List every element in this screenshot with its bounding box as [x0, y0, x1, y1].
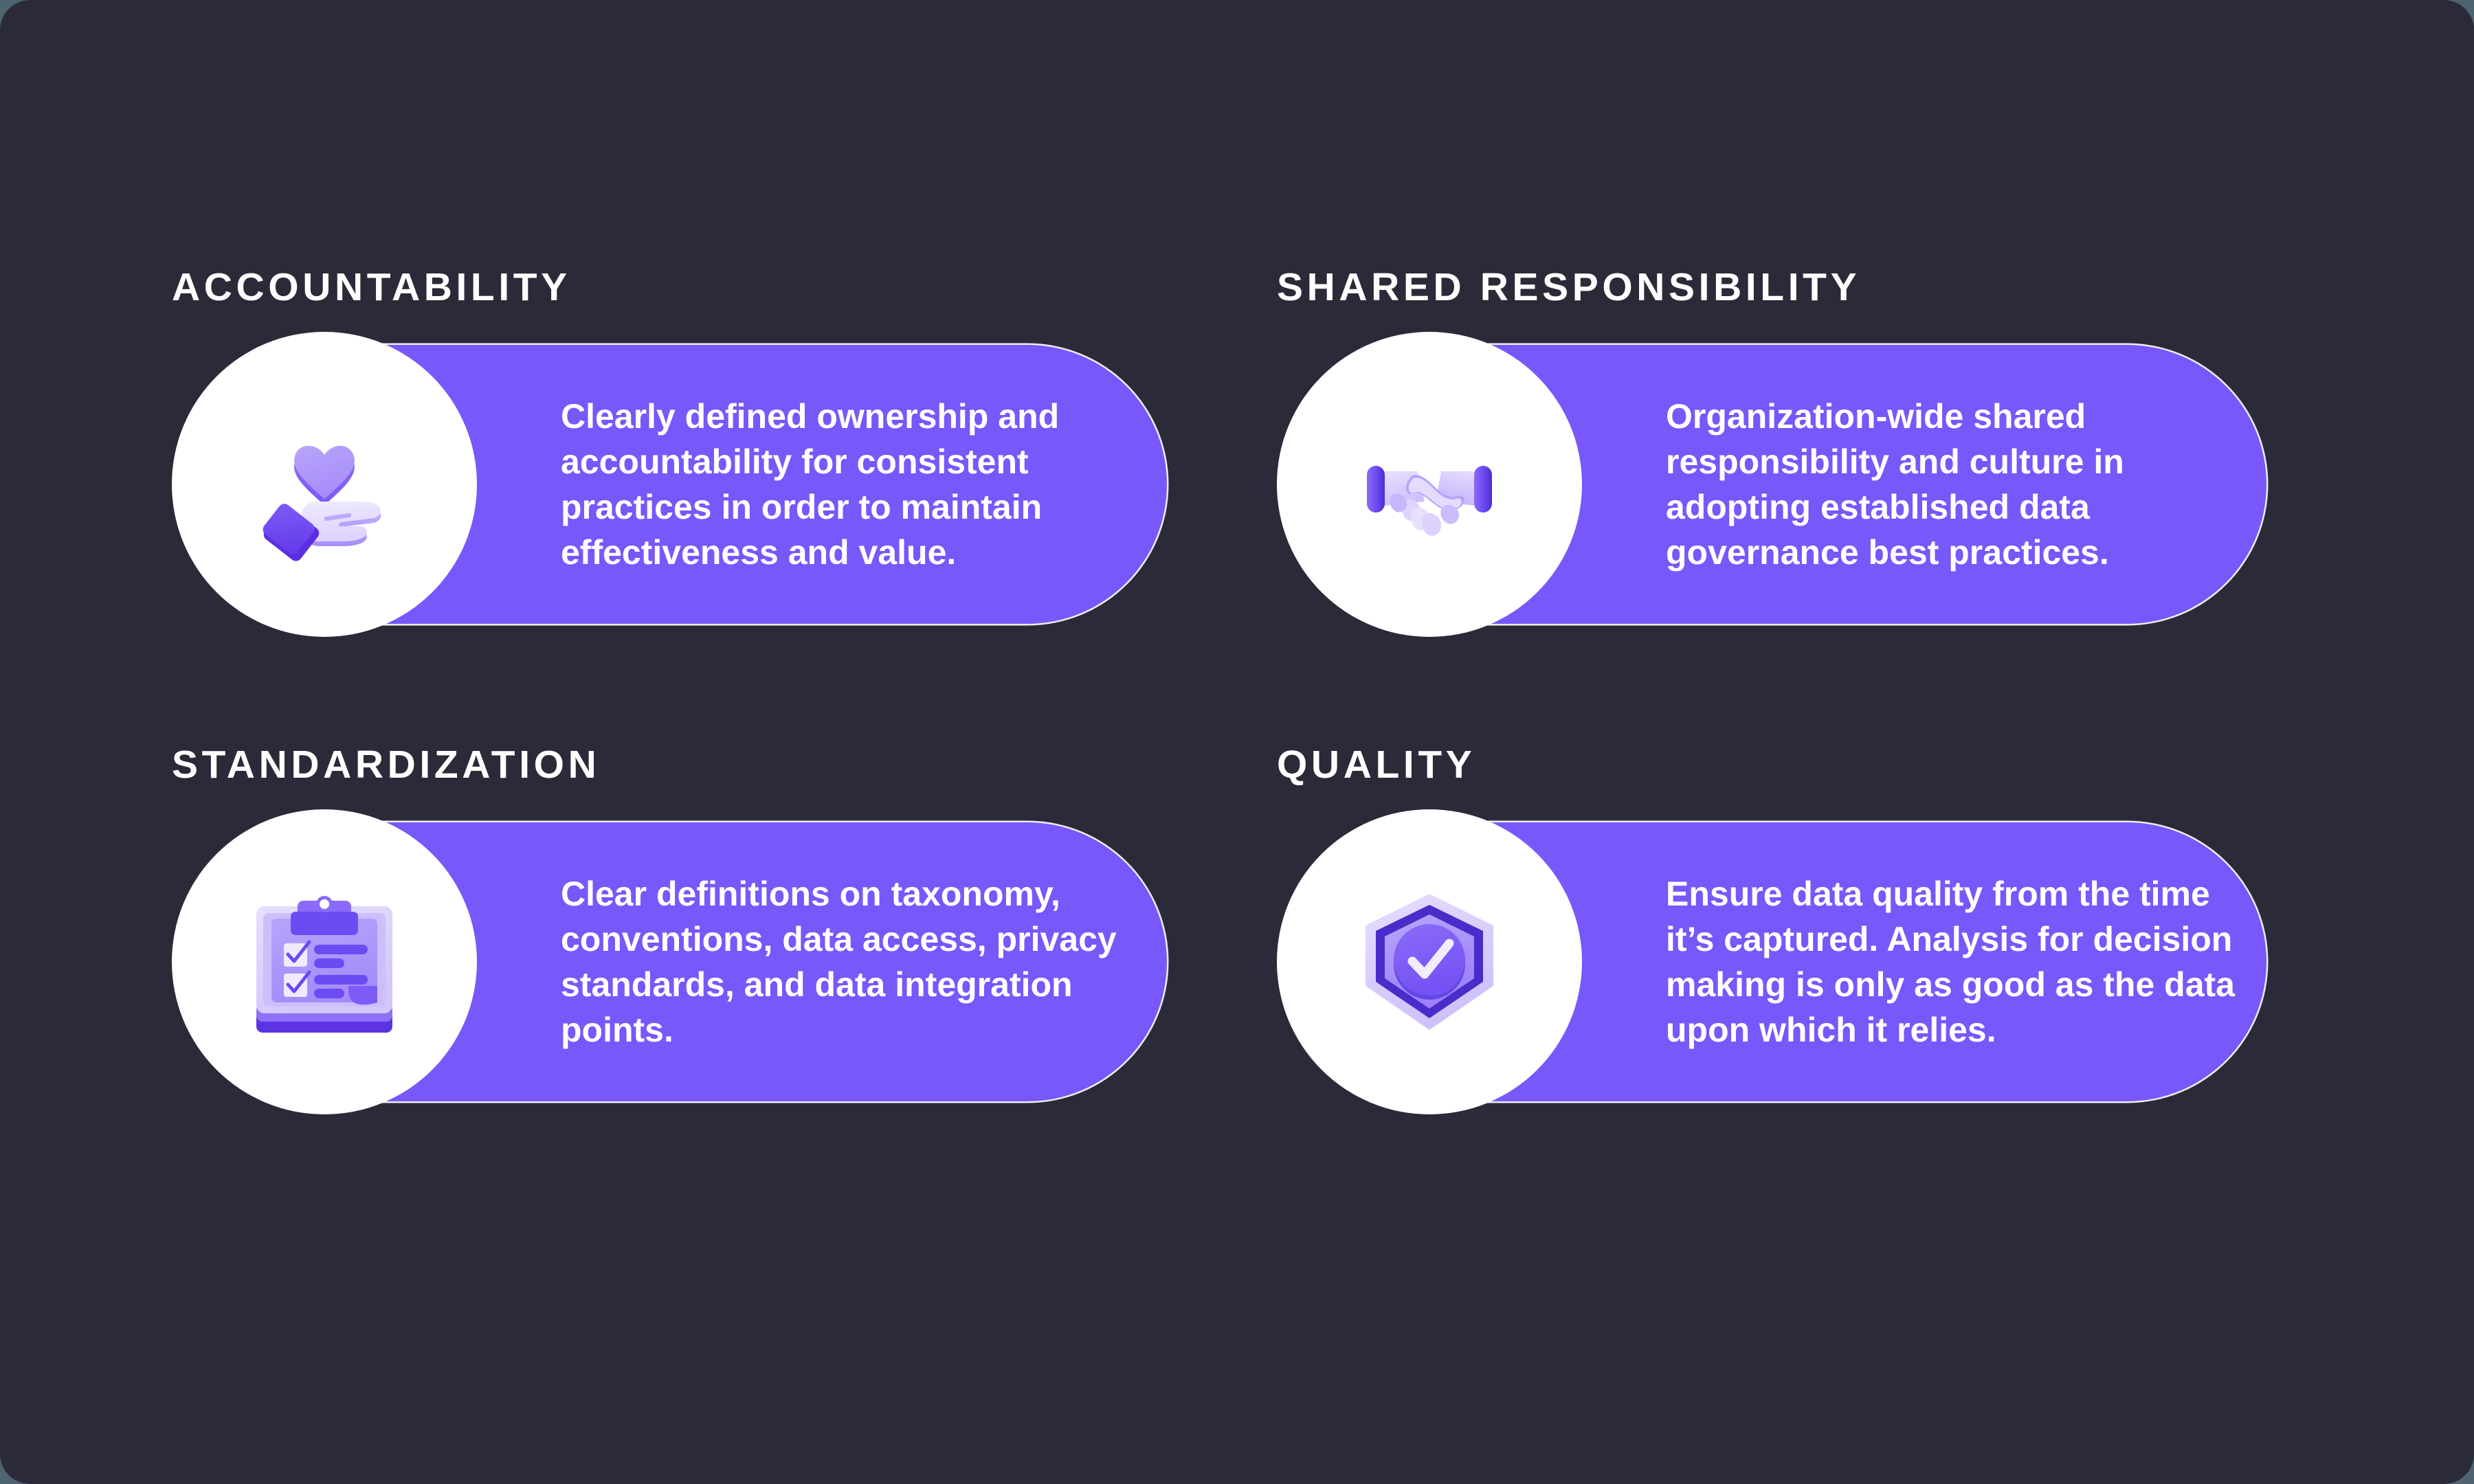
card-standardization: STANDARDIZATION Clear definitions on tax…: [172, 745, 1211, 1223]
clipboard-checklist-icon: [238, 876, 410, 1048]
card-body-text: Organization-wide shared responsibility …: [1666, 394, 2236, 575]
card-title: STANDARDIZATION: [172, 745, 600, 785]
card-icon-circle: [172, 809, 477, 1114]
handshake-icon: [1344, 398, 1515, 570]
card-pill-wrapper: Ensure data quality from the time it’s c…: [1277, 822, 2266, 1101]
card-pill-wrapper: Clearly defined ownership and accountabi…: [172, 345, 1167, 624]
card-accountability: ACCOUNTABILITY Clearly defined ownership…: [172, 268, 1211, 745]
card-pill-wrapper: Organization-wide shared responsibility …: [1277, 345, 2266, 624]
card-quality: QUALITY Ensure data quality from the tim…: [1277, 745, 2316, 1223]
card-icon-circle: [1277, 332, 1582, 637]
card-body-text: Clear definitions on taxonomy, conventio…: [561, 871, 1152, 1053]
card-icon-circle: [172, 332, 477, 637]
infographic-canvas: ACCOUNTABILITY Clearly defined ownership…: [0, 0, 2474, 1484]
card-pill-wrapper: Clear definitions on taxonomy, conventio…: [172, 822, 1167, 1101]
card-title: QUALITY: [1277, 745, 1475, 785]
principles-grid: ACCOUNTABILITY Clearly defined ownership…: [172, 268, 2316, 1223]
card-shared-responsibility: SHARED RESPONSIBILITY Organization-wide …: [1277, 268, 2316, 745]
card-body-text: Ensure data quality from the time it’s c…: [1666, 871, 2236, 1053]
shield-check-icon: [1344, 876, 1515, 1048]
card-title: SHARED RESPONSIBILITY: [1277, 268, 1860, 307]
card-body-text: Clearly defined ownership and accountabi…: [561, 394, 1152, 575]
card-icon-circle: [1277, 809, 1582, 1114]
hand-holding-heart-icon: [238, 398, 410, 570]
card-title: ACCOUNTABILITY: [172, 268, 571, 307]
